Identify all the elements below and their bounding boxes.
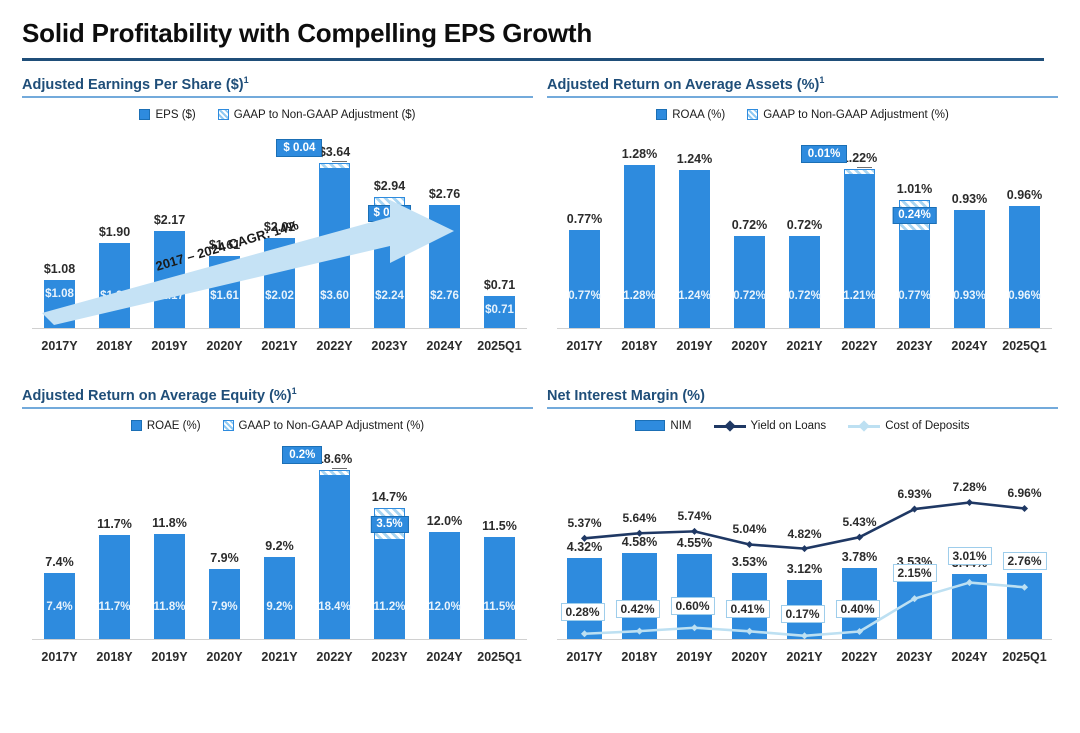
bar[interactable]: $2.17 — [154, 231, 186, 328]
bar[interactable] — [567, 558, 601, 639]
panel-eps-title-text: Adjusted Earnings Per Share ($) — [22, 76, 244, 92]
bar[interactable]: 1.28% — [624, 165, 656, 328]
axis-baseline-roae — [32, 639, 527, 640]
panel-roaa-divider — [547, 96, 1058, 98]
bar-group: 14.7%11.2%3.5% — [362, 438, 417, 639]
panel-nim-title-text: Net Interest Margin (%) — [547, 387, 705, 403]
bar[interactable]: $3.60 — [319, 168, 351, 328]
legend-swatch-solid-icon — [131, 420, 142, 431]
bar-group: 9.2%9.2% — [252, 438, 307, 639]
adjustment-value-label: 3.5% — [370, 516, 408, 533]
xaxis-tick-label: 2021Y — [252, 650, 307, 664]
bar-group: $3.64$3.60$ 0.04 — [307, 127, 362, 328]
bar[interactable]: 0.72% — [789, 236, 821, 328]
bar-value-label: 7.4% — [46, 601, 72, 639]
bar-group: $2.94$2.24$ 0.70 — [362, 127, 417, 328]
legend-label-eps: EPS ($) — [155, 109, 195, 121]
bar[interactable]: 0.77% — [899, 230, 931, 328]
bar[interactable]: $0.71 — [484, 296, 516, 328]
bar-value-label: 11.8% — [154, 601, 186, 639]
bar[interactable]: $2.24 — [374, 228, 406, 328]
legend-label-nim: NIM — [670, 420, 691, 432]
bar-value-label: $2.17 — [155, 290, 184, 328]
bar-group: $2.17$2.17 — [142, 127, 197, 328]
panel-roaa-footnote-marker: 1 — [819, 75, 824, 85]
bar-value-label: 11.2% — [374, 601, 406, 639]
bar-value-label: 0.96% — [1008, 290, 1041, 328]
bar-value-label: 7.9% — [211, 601, 237, 639]
bar-value-label: $1.61 — [210, 290, 239, 328]
bar[interactable]: 11.8% — [154, 534, 186, 639]
bar[interactable] — [842, 568, 876, 639]
xaxis-tick-label: 2022Y — [832, 339, 887, 353]
xaxis-roaa: 2017Y2018Y2019Y2020Y2021Y2022Y2023Y2024Y… — [557, 339, 1052, 353]
bar[interactable]: 11.7% — [99, 535, 131, 639]
xaxis-roae: 2017Y2018Y2019Y2020Y2021Y2022Y2023Y2024Y… — [32, 650, 527, 664]
bar[interactable] — [622, 553, 656, 639]
bar-value-label: 11.7% — [99, 601, 131, 639]
bar-group: 3.53% — [722, 438, 777, 639]
xaxis-tick-label: 2023Y — [887, 650, 942, 664]
legend-item-roae[interactable]: ROAE (%) — [131, 420, 201, 432]
page-title: Solid Profitability with Compelling EPS … — [22, 0, 1058, 50]
xaxis-tick-label: 2023Y — [887, 339, 942, 353]
plot-roaa: 0.77%0.77%1.28%1.28%1.24%1.24%0.72%0.72%… — [547, 127, 1058, 355]
bar-value-label: $1.08 — [45, 288, 74, 328]
bar[interactable] — [952, 574, 986, 639]
legend-label-roaa: ROAA (%) — [672, 109, 725, 121]
bar-group: 11.5%11.5% — [472, 438, 527, 639]
xaxis-tick-label: 2020Y — [197, 650, 252, 664]
bar[interactable]: $1.08 — [44, 280, 76, 328]
panel-nim: Net Interest Margin (%) NIM Yield on Loa… — [547, 382, 1058, 693]
bars-nim: 4.32%4.58%4.55%3.53%3.12%3.78%3.53%3.44%… — [557, 438, 1052, 639]
callout-connector-line — [857, 167, 871, 168]
bar[interactable] — [897, 573, 931, 639]
bar-value-label: $0.71 — [485, 304, 514, 328]
adjustment-callout-label: 0.2% — [282, 446, 322, 464]
bar-group: 3.12% — [777, 438, 832, 639]
bar-value-label: 11.5% — [484, 601, 516, 639]
xaxis-tick-label: 2021Y — [777, 650, 832, 664]
bar-value-label: 18.4% — [318, 601, 351, 639]
bar-total-label: 11.5% — [458, 519, 541, 533]
bar-group: $1.90$1.90 — [87, 127, 142, 328]
bar-group: 7.4%7.4% — [32, 438, 87, 639]
xaxis-tick-label: 2022Y — [307, 339, 362, 353]
panel-nim-title: Net Interest Margin (%) — [547, 382, 1058, 408]
xaxis-tick-label: 2025Q1 — [472, 650, 527, 664]
plot-roae: 7.4%7.4%11.7%11.7%11.8%11.8%7.9%7.9%9.2%… — [22, 438, 533, 666]
bar-value-label: 1.24% — [678, 290, 711, 328]
axis-baseline-roaa — [557, 328, 1052, 329]
xaxis-tick-label: 2018Y — [612, 339, 667, 353]
xaxis-tick-label: 2025Q1 — [997, 650, 1052, 664]
bar-total-label: 3.52% — [983, 555, 1066, 569]
panel-eps-title: Adjusted Earnings Per Share ($)1 — [22, 71, 533, 97]
xaxis-tick-label: 2018Y — [612, 650, 667, 664]
legend-label-eps-adjustment: GAAP to Non-GAAP Adjustment ($) — [234, 109, 416, 121]
bar-value-label: 1.21% — [843, 290, 876, 328]
xaxis-tick-label: 2019Y — [667, 650, 722, 664]
bar[interactable]: 1.24% — [679, 170, 711, 328]
xaxis-tick-label: 2020Y — [197, 339, 252, 353]
xaxis-tick-label: 2024Y — [417, 339, 472, 353]
legend-label-roaa-adjustment: GAAP to Non-GAAP Adjustment (%) — [763, 109, 949, 121]
bar-value-label: 9.2% — [266, 601, 292, 639]
panel-nim-divider — [547, 407, 1058, 409]
bar-group: $2.76$2.76 — [417, 127, 472, 328]
panel-eps-footnote-marker: 1 — [244, 75, 249, 85]
legend-line-diamond-lightblue-icon — [848, 420, 880, 431]
xaxis-tick-label: 2021Y — [777, 339, 832, 353]
legend-label-cost-of-deposits: Cost of Deposits — [885, 420, 969, 432]
legend-swatch-solid-icon — [656, 109, 667, 120]
xaxis-tick-label: 2018Y — [87, 339, 142, 353]
charts-grid: Adjusted Earnings Per Share ($)1 EPS ($)… — [22, 71, 1058, 693]
bar[interactable]: 12.0% — [429, 532, 461, 639]
panel-roae-title: Adjusted Return on Average Equity (%)1 — [22, 382, 533, 408]
bar[interactable]: 7.4% — [44, 573, 76, 639]
panel-roaa-title: Adjusted Return on Average Assets (%)1 — [547, 71, 1058, 97]
bar-value-label: $2.76 — [430, 290, 459, 328]
xaxis-tick-label: 2017Y — [557, 650, 612, 664]
legend-swatch-solid-icon — [139, 109, 150, 120]
xaxis-nim: 2017Y2018Y2019Y2020Y2021Y2022Y2023Y2024Y… — [557, 650, 1052, 664]
bar[interactable]: 18.4% — [319, 475, 351, 639]
bar-group: 12.0%12.0% — [417, 438, 472, 639]
bar-value-label: $2.24 — [375, 290, 404, 328]
legend-line-diamond-navy-icon — [714, 420, 746, 431]
bar-group: 3.52% — [997, 438, 1052, 639]
xaxis-tick-label: 2025Q1 — [997, 339, 1052, 353]
legend-item-eps[interactable]: EPS ($) — [139, 109, 195, 121]
bar[interactable]: 0.72% — [734, 236, 766, 328]
bar-value-label: 12.0% — [428, 601, 461, 639]
legend-label-roae: ROAE (%) — [147, 420, 201, 432]
bar[interactable] — [677, 554, 711, 639]
xaxis-tick-label: 2017Y — [32, 650, 87, 664]
bar-group: 1.22%1.21%0.01% — [832, 127, 887, 328]
legend-item-roaa-adjustment[interactable]: GAAP to Non-GAAP Adjustment (%) — [747, 109, 949, 121]
bar[interactable]: $2.76 — [429, 205, 461, 328]
xaxis-tick-label: 2022Y — [832, 650, 887, 664]
bar-group: 11.7%11.7% — [87, 438, 142, 639]
legend-roae: ROAE (%) GAAP to Non-GAAP Adjustment (%) — [22, 418, 533, 434]
panel-roae-title-text: Adjusted Return on Average Equity (%) — [22, 387, 292, 403]
bar-total-label: $0.71 — [458, 278, 541, 292]
bar[interactable]: 7.9% — [209, 569, 241, 639]
legend-label-roae-adjustment: GAAP to Non-GAAP Adjustment (%) — [239, 420, 425, 432]
xaxis-tick-label: 2025Q1 — [472, 339, 527, 353]
legend-swatch-hatched-icon — [218, 109, 229, 120]
xaxis-tick-label: 2023Y — [362, 650, 417, 664]
legend-swatch-hatched-icon — [747, 109, 758, 120]
legend-nim: NIM Yield on Loans Cost of Deposits — [547, 418, 1058, 434]
bar[interactable]: $2.02 — [264, 238, 296, 328]
plot-eps: $1.08$1.08$1.90$1.90$2.17$2.17$1.61$1.61… — [22, 127, 533, 355]
bar-value-label: 0.72% — [788, 290, 821, 328]
xaxis-tick-label: 2020Y — [722, 339, 777, 353]
legend-eps: EPS ($) GAAP to Non-GAAP Adjustment ($) — [22, 107, 533, 123]
bar-value-label: $2.02 — [265, 290, 294, 328]
xaxis-tick-label: 2022Y — [307, 650, 362, 664]
bar-value-label: $3.60 — [320, 290, 349, 328]
bar-value-label: 0.77% — [898, 290, 931, 328]
xaxis-tick-label: 2021Y — [252, 339, 307, 353]
xaxis-tick-label: 2019Y — [142, 650, 197, 664]
bar[interactable]: 0.96% — [1009, 206, 1041, 328]
bar-value-label: 0.72% — [733, 290, 766, 328]
axis-baseline-nim — [557, 639, 1052, 640]
panel-roae: Adjusted Return on Average Equity (%)1 R… — [22, 382, 533, 693]
callout-connector-line — [332, 161, 346, 162]
bar[interactable]: 0.93% — [954, 210, 986, 328]
legend-item-yield-on-loans[interactable]: Yield on Loans — [714, 420, 827, 432]
legend-item-nim[interactable]: NIM — [635, 420, 691, 432]
callout-connector-line — [332, 468, 346, 469]
bar[interactable]: $1.90 — [99, 243, 131, 328]
legend-item-roae-adjustment[interactable]: GAAP to Non-GAAP Adjustment (%) — [223, 420, 425, 432]
bar-group: 18.6%18.4%0.2% — [307, 438, 362, 639]
bar[interactable]: 9.2% — [264, 557, 296, 639]
bar[interactable]: 11.5% — [484, 537, 516, 639]
bars-roaa: 0.77%0.77%1.28%1.28%1.24%1.24%0.72%0.72%… — [557, 127, 1052, 328]
bar[interactable] — [732, 573, 766, 639]
legend-label-yield-on-loans: Yield on Loans — [751, 420, 827, 432]
xaxis-tick-label: 2019Y — [142, 339, 197, 353]
bar-group: 0.96%0.96% — [997, 127, 1052, 328]
bar-group: 3.53% — [887, 438, 942, 639]
panel-eps: Adjusted Earnings Per Share ($)1 EPS ($)… — [22, 71, 533, 382]
bar[interactable] — [1007, 573, 1041, 639]
legend-item-roaa[interactable]: ROAA (%) — [656, 109, 725, 121]
xaxis-tick-label: 2019Y — [667, 339, 722, 353]
panel-roae-footnote-marker: 1 — [292, 386, 297, 396]
legend-item-eps-adjustment[interactable]: GAAP to Non-GAAP Adjustment ($) — [218, 109, 416, 121]
bar[interactable]: 1.21% — [844, 174, 876, 328]
adjustment-value-label: $ 0.70 — [368, 205, 412, 222]
bar-value-label: $1.90 — [100, 290, 129, 328]
bar-group: 3.78% — [832, 438, 887, 639]
xaxis-tick-label: 2024Y — [942, 339, 997, 353]
bars-eps: $1.08$1.08$1.90$1.90$2.17$2.17$1.61$1.61… — [32, 127, 527, 328]
plot-nim: 4.32%4.58%4.55%3.53%3.12%3.78%3.53%3.44%… — [547, 438, 1058, 666]
xaxis-tick-label: 2024Y — [417, 650, 472, 664]
adjustment-callout-label: 0.01% — [801, 145, 848, 163]
title-divider — [22, 58, 1044, 61]
adjustment-value-label: 0.24% — [892, 207, 937, 224]
bar-value-label: 1.28% — [623, 290, 656, 328]
bar-group: $0.71$0.71 — [472, 127, 527, 328]
bar-group: 11.8%11.8% — [142, 438, 197, 639]
bar[interactable]: 0.77% — [569, 230, 601, 328]
xaxis-tick-label: 2020Y — [722, 650, 777, 664]
bar-value-label: 0.93% — [953, 290, 986, 328]
bar-group: 0.93%0.93% — [942, 127, 997, 328]
slide-root: Solid Profitability with Compelling EPS … — [0, 0, 1080, 733]
bar[interactable]: 11.2% — [374, 539, 406, 639]
bars-roae: 7.4%7.4%11.7%11.7%11.8%11.8%7.9%7.9%9.2%… — [32, 438, 527, 639]
axis-baseline-eps — [32, 328, 527, 329]
bar[interactable]: $1.61 — [209, 256, 241, 328]
bar-group: 3.44% — [942, 438, 997, 639]
legend-roaa: ROAA (%) GAAP to Non-GAAP Adjustment (%) — [547, 107, 1058, 123]
bar-group: 4.55% — [667, 438, 722, 639]
panel-roae-divider — [22, 407, 533, 409]
bar-value-label: 0.77% — [568, 290, 601, 328]
bar-total-label: 0.96% — [983, 188, 1066, 202]
panel-roaa-title-text: Adjusted Return on Average Assets (%) — [547, 76, 819, 92]
xaxis-eps: 2017Y2018Y2019Y2020Y2021Y2022Y2023Y2024Y… — [32, 339, 527, 353]
panel-roaa: Adjusted Return on Average Assets (%)1 R… — [547, 71, 1058, 382]
xaxis-tick-label: 2017Y — [557, 339, 612, 353]
xaxis-tick-label: 2018Y — [87, 650, 142, 664]
adjustment-callout-label: $ 0.04 — [276, 139, 322, 157]
legend-swatch-bar-icon — [635, 420, 665, 431]
bar[interactable] — [787, 580, 821, 639]
xaxis-tick-label: 2024Y — [942, 650, 997, 664]
xaxis-tick-label: 2023Y — [362, 339, 417, 353]
legend-swatch-hatched-icon — [223, 420, 234, 431]
xaxis-tick-label: 2017Y — [32, 339, 87, 353]
legend-item-cost-of-deposits[interactable]: Cost of Deposits — [848, 420, 969, 432]
bar-group: 1.01%0.77%0.24% — [887, 127, 942, 328]
panel-eps-divider — [22, 96, 533, 98]
